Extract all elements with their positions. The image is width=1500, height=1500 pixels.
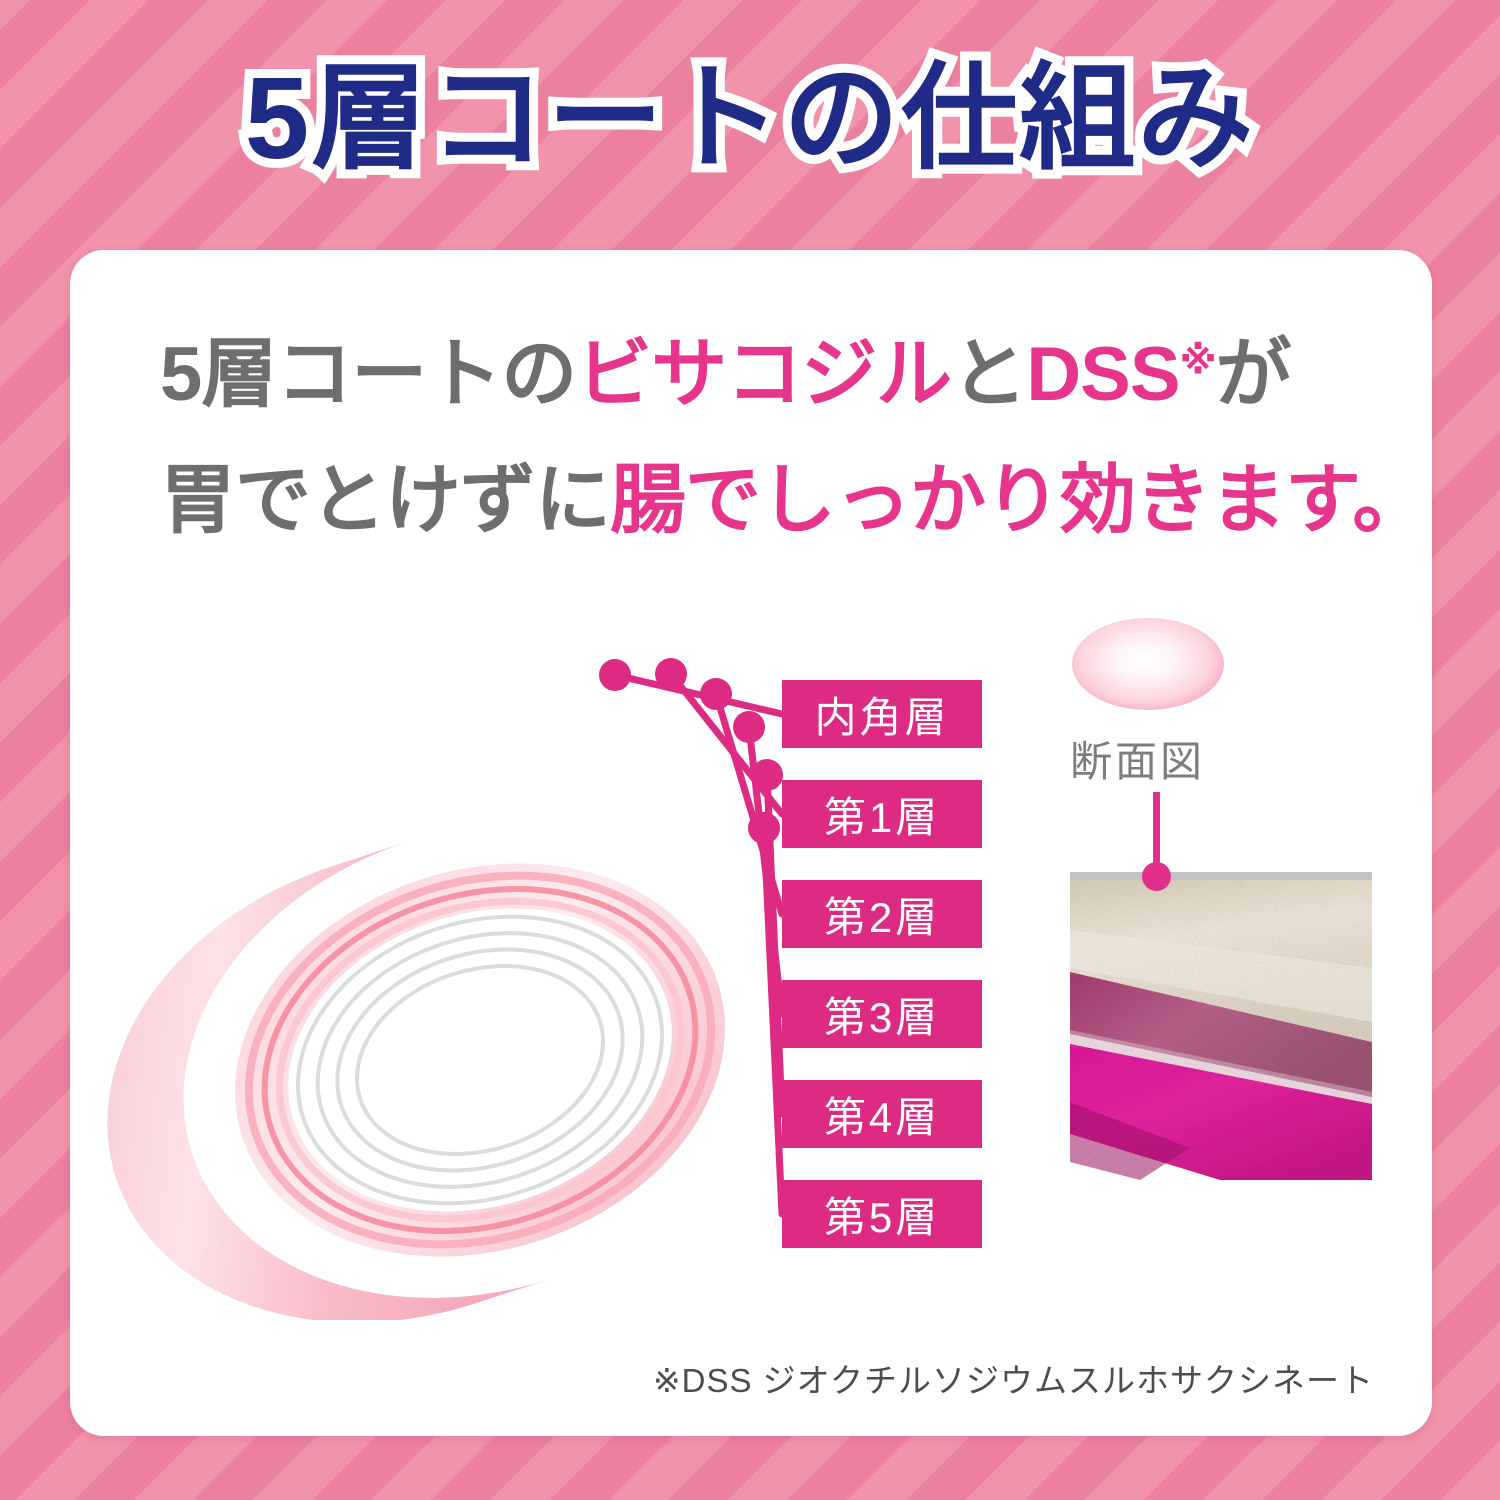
- layer-label-5[interactable]: 第4層: [782, 1080, 982, 1148]
- content-card: 5層コートのビサコジルとDSS※が 胃でとけずに腸でしっかり効きます。: [70, 250, 1432, 1436]
- leader-line-1: [615, 675, 782, 714]
- headline-line-2: 胃でとけずに腸でしっかり効きます。: [160, 438, 1427, 548]
- headline-highlight-bisacodyl: ビサコジル: [576, 332, 951, 417]
- footnote-marker-icon: ※: [1180, 341, 1216, 383]
- page-title: 5層コートの仕組み: [245, 58, 1256, 180]
- headline-highlight-intestine: 腸でしっかり効きます。: [610, 458, 1427, 543]
- layer-label-text: 内角層: [814, 684, 949, 745]
- layer-label-3[interactable]: 第2層: [782, 880, 982, 948]
- infographic-page: 5層コートの仕組み 5層コートのビサコジルとDSS※が 胃でとけずに腸でしっかり…: [0, 0, 1500, 1500]
- layer-label-2[interactable]: 第1層: [782, 780, 982, 848]
- headline-highlight-dss: DSS: [1026, 332, 1179, 417]
- page-title-bar: 5層コートの仕組み: [0, 58, 1500, 180]
- layer-label-text: 第2層: [824, 884, 940, 945]
- headline-text-1c: が: [1216, 332, 1291, 417]
- tablet-diagram: [100, 760, 820, 1320]
- layer-dot-4: [733, 711, 765, 743]
- pointer-dot-icon: [1142, 862, 1171, 891]
- layer-label-text: 第4層: [824, 1084, 940, 1145]
- layer-label-text: 第5層: [824, 1184, 940, 1245]
- headline-text-2a: 胃でとけずに: [160, 458, 610, 543]
- headline-text-1b: と: [951, 332, 1026, 417]
- photo-caption: 断面拡大図: [1072, 1430, 1297, 1436]
- layer-label-6[interactable]: 第5層: [782, 1180, 982, 1248]
- tablet-illustration-svg: [100, 760, 820, 1320]
- layer-label-text: 第3層: [824, 984, 940, 1045]
- layer-label-4[interactable]: 第3層: [782, 980, 982, 1048]
- layer-dot-3: [700, 678, 732, 710]
- pointer-line: [1153, 792, 1160, 870]
- layer-label-1[interactable]: 内角層: [782, 680, 982, 748]
- cross-section-photo-svg: [1070, 872, 1372, 1180]
- layer-label-text: 第1層: [824, 784, 940, 845]
- footnote-text: ※DSS ジオクチルソジウムスルホサクシネート: [70, 1354, 1432, 1402]
- cross-section-caption: 断面図: [1070, 728, 1205, 789]
- layer-dot-2: [655, 658, 687, 690]
- layer-dot-1: [599, 659, 631, 691]
- headline-line-1: 5層コートのビサコジルとDSS※が: [160, 312, 1291, 422]
- headline-text-1a: 5層コートの: [160, 332, 576, 417]
- cross-section-photo: [1070, 872, 1372, 1180]
- tablet-pill-shape: [1072, 618, 1224, 710]
